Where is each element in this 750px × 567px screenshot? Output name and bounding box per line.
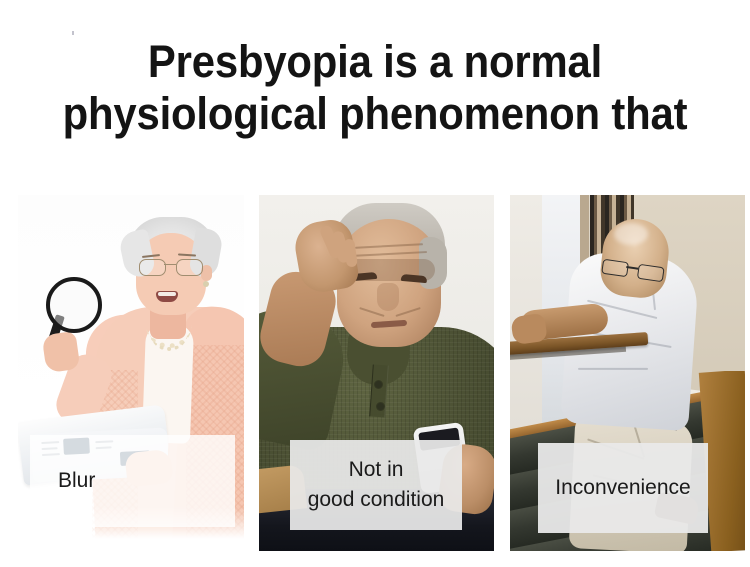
magnifying-glass-icon: [46, 277, 102, 333]
title-line-1: Presbyopia is a normal: [26, 36, 724, 88]
slide-canvas: Presbyopia is a normal physiological phe…: [0, 0, 750, 567]
caption-line: Inconvenience: [555, 473, 690, 503]
caption-inconvenience: Inconvenience: [538, 443, 708, 533]
bridge: [164, 264, 176, 265]
lens-right: [176, 259, 203, 276]
panel-blur[interactable]: Blur: [18, 195, 244, 551]
earring: [203, 281, 209, 287]
sweater-button-top: [375, 381, 382, 388]
page-title: Presbyopia is a normal physiological phe…: [0, 36, 750, 140]
mouth: [156, 291, 178, 302]
bald-highlight: [614, 223, 648, 245]
nose: [377, 283, 399, 311]
sweater-button-bottom: [377, 403, 384, 410]
lens-left: [139, 259, 166, 276]
dust-speck-artifact: [72, 31, 74, 35]
caption-line: Not in: [349, 455, 404, 485]
panel-inconvenience[interactable]: Inconvenience: [510, 195, 745, 551]
caption-line: Blur: [58, 466, 95, 496]
shirt-fold: [578, 368, 648, 370]
eyeglasses-icon: [138, 259, 204, 275]
hand-holding-magnifier: [42, 331, 81, 373]
caption-blur: Blur: [30, 435, 235, 527]
caption-not-in-good-condition: Not in good condition: [290, 440, 462, 530]
caption-line: good condition: [308, 485, 445, 515]
panel-not-in-good-condition[interactable]: Not in good condition: [259, 195, 494, 551]
title-line-2: physiological phenomenon that: [26, 88, 724, 140]
